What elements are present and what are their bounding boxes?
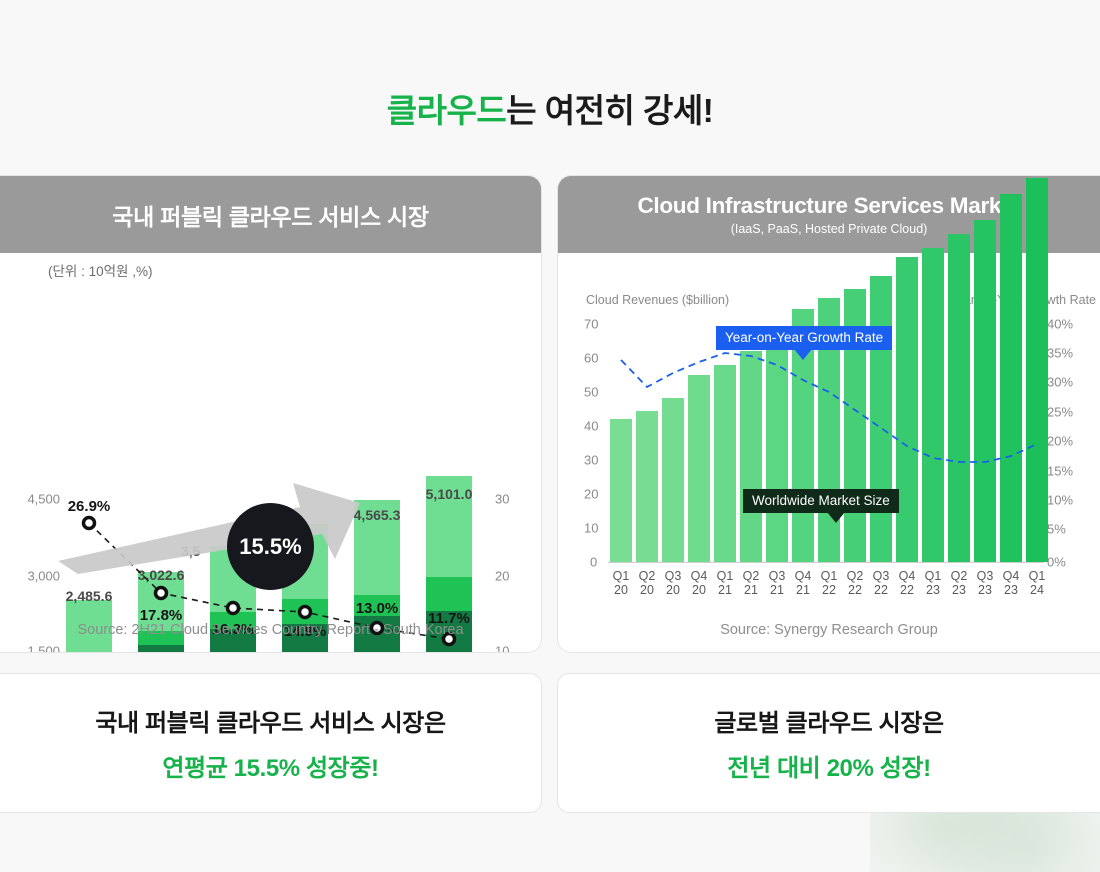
summary-card-global: 글로벌 클라우드 시장은 전년 대비 20% 성장! <box>557 673 1100 813</box>
page-title: 클라우드는 여전히 강세! <box>0 84 1100 132</box>
page-title-highlight: 클라우드 <box>387 92 506 129</box>
callout-market-size-tip-icon <box>827 512 845 523</box>
summary-card-domestic: 국내 퍼블릭 클라우드 서비스 시장은 연평균 15.5% 성장중! <box>0 673 542 813</box>
left-chart-card: 국내 퍼블릭 클라우드 서비스 시장 (단위 : 10억원 ,%) 4,500 … <box>0 175 542 653</box>
left-chart-source: Source: 2H21 Cloud Services Country Repo… <box>0 622 541 638</box>
summary-card-domestic-line1: 국내 퍼블릭 클라우드 서비스 시장은 <box>95 703 445 738</box>
right-chart-plot: Cloud Revenues ($billion) Year-on-Year G… <box>558 176 1100 653</box>
callout-yoy-growth-tip-icon <box>794 349 812 360</box>
summary-card-domestic-line2: 연평균 15.5% 성장중! <box>162 748 378 783</box>
trend-arrow-icon <box>50 471 395 581</box>
summary-card-global-line2: 전년 대비 20% 성장! <box>727 748 930 783</box>
callout-market-size-label: Worldwide Market Size <box>752 493 890 508</box>
page-title-rest: 는 여전히 강세! <box>506 92 713 129</box>
callout-yoy-growth-label: Year-on-Year Growth Rate <box>725 330 883 345</box>
right-chart-card: Cloud Infrastructure Services Market (Ia… <box>557 175 1100 653</box>
cagr-bubble-label: 15.5% <box>239 534 301 560</box>
rx-label-16: Q124 <box>1019 569 1055 597</box>
summary-card-global-line1: 글로벌 클라우드 시장은 <box>714 703 943 738</box>
callout-yoy-growth: Year-on-Year Growth Rate <box>716 326 892 350</box>
left-chart-plot: 4,500 3,000 1,500 0 30 20 10 0 <box>0 176 542 653</box>
right-chart-source: Source: Synergy Research Group <box>558 622 1100 638</box>
page-root: 클라우드는 여전히 강세! 국내 퍼블릭 클라우드 서비스 시장 (단위 : 1… <box>0 0 1100 872</box>
cagr-bubble: 15.5% <box>227 503 314 590</box>
callout-market-size: Worldwide Market Size <box>743 489 899 513</box>
